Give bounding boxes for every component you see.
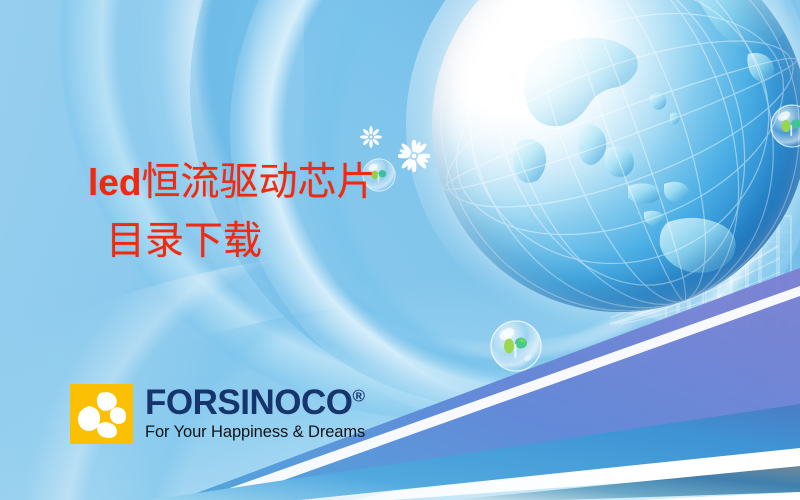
logo-tagline: For Your Happiness & Dreams xyxy=(145,424,365,441)
headline-line-2: 目录下载 xyxy=(106,222,375,263)
logo-company-name: FORSINOCO® xyxy=(145,385,365,420)
headline-cjk: 恒流驱动芯片 xyxy=(141,161,375,204)
marketing-banner: led恒流驱动芯片 目录下载 FORSINOCO® For Your Happ xyxy=(0,0,800,500)
logo-mark-square xyxy=(70,384,133,444)
company-logo: FORSINOCO® For Your Happiness & Dreams xyxy=(70,384,365,444)
registered-trademark-icon: ® xyxy=(352,386,365,405)
headline-latin: led xyxy=(88,162,141,203)
forsinoco-petal-icon xyxy=(70,384,133,444)
logo-wordmark: FORSINOCO® For Your Happiness & Dreams xyxy=(145,385,365,441)
headline-line-1: led恒流驱动芯片 xyxy=(88,163,375,204)
headline-text: led恒流驱动芯片 目录下载 xyxy=(88,163,375,262)
logo-name-text: FORSINOCO xyxy=(145,383,352,422)
